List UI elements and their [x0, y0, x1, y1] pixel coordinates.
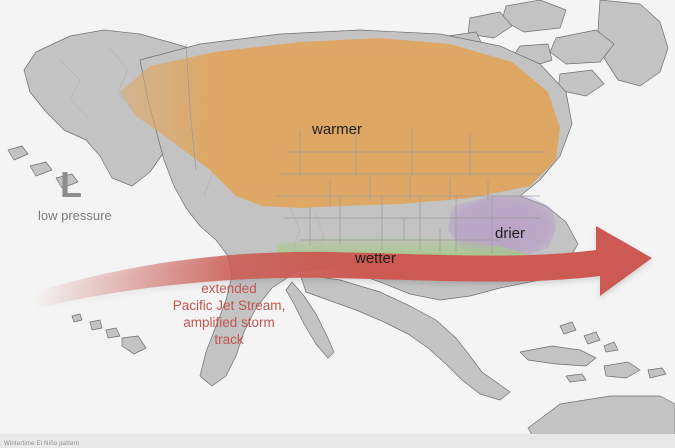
map-canvas: [0, 0, 675, 448]
jet-stream-line-3: amplified storm: [136, 314, 322, 331]
jet-stream-line-4: track: [136, 331, 322, 348]
climate-map-figure: warmer drier wetter L low pressure exten…: [0, 0, 675, 448]
region-label-drier: drier: [495, 225, 525, 242]
figure-caption: Wintertime El Niño pattern: [4, 441, 79, 447]
low-pressure-label: low pressure: [38, 208, 168, 223]
low-pressure-marker: L low pressure: [38, 168, 168, 223]
jet-stream-line-2: Pacific Jet Stream,: [136, 297, 322, 314]
low-pressure-symbol: L: [38, 168, 168, 202]
region-label-wetter: wetter: [355, 250, 396, 267]
jet-stream-line-1: extended: [136, 280, 322, 297]
region-label-warmer: warmer: [312, 121, 362, 138]
caption-bar: [0, 434, 675, 448]
jet-stream-annotation: extended Pacific Jet Stream, amplified s…: [136, 280, 322, 348]
